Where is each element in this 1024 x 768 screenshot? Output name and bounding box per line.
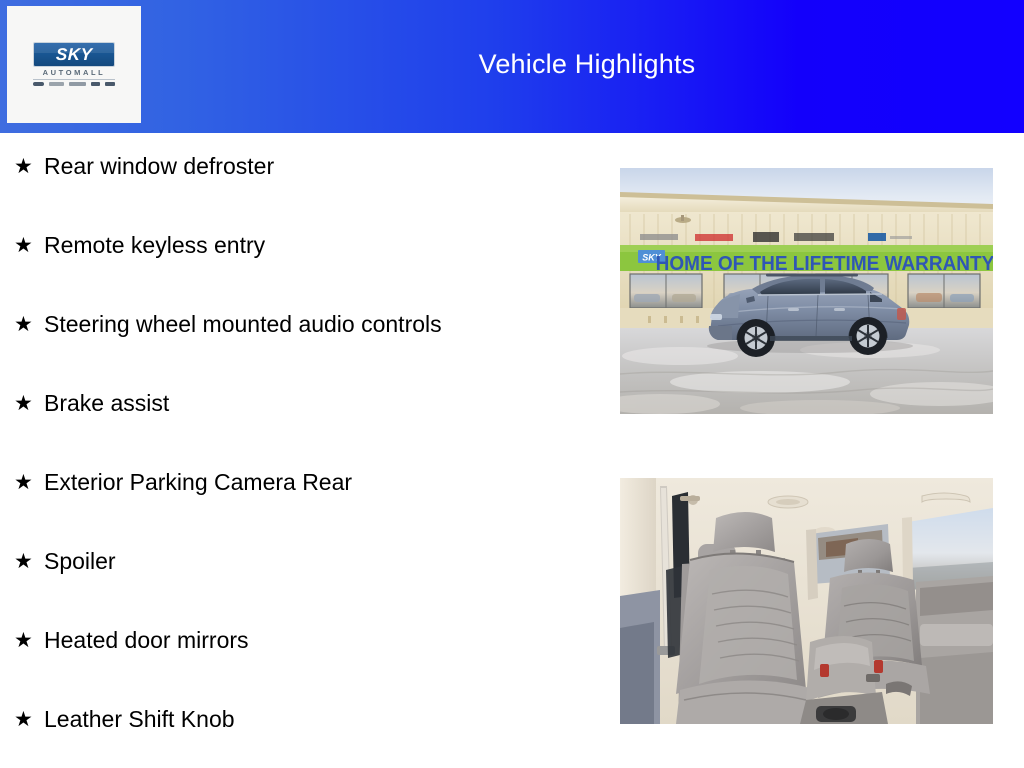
vehicle-exterior-photo: SKY HOME OF THE LIFETIME WARRANTY <box>620 168 993 414</box>
exterior-photo-art: SKY HOME OF THE LIFETIME WARRANTY <box>620 168 993 414</box>
chrysler-brand-icon <box>33 82 44 86</box>
star-icon: ★ <box>14 308 44 341</box>
oem-brand-logo-strip <box>33 82 115 86</box>
jeep-brand-icon <box>69 82 86 86</box>
list-item: ★ Spoiler <box>14 545 614 624</box>
sky-brand-icon <box>105 82 115 86</box>
feature-label: Rear window defroster <box>44 150 274 183</box>
dodge-brand-icon <box>49 82 64 86</box>
list-item: ★ Heated door mirrors <box>14 624 614 703</box>
feature-label: Heated door mirrors <box>44 624 249 657</box>
star-icon: ★ <box>14 703 44 736</box>
star-icon: ★ <box>14 624 44 657</box>
star-icon: ★ <box>14 229 44 262</box>
dealer-logo-card: SKY AUTOMALL <box>7 6 141 123</box>
star-icon: ★ <box>14 387 44 420</box>
list-item: ★ Rear window defroster <box>14 150 614 229</box>
logo-divider <box>33 79 115 80</box>
list-item: ★ Brake assist <box>14 387 614 466</box>
feature-label: Steering wheel mounted audio controls <box>44 308 442 341</box>
star-icon: ★ <box>14 545 44 578</box>
automall-logo-text: AUTOMALL <box>43 69 106 77</box>
feature-label: Exterior Parking Camera Rear <box>44 466 352 499</box>
sky-logo-text: SKY <box>55 46 92 63</box>
ram-brand-icon <box>91 82 100 86</box>
feature-label: Remote keyless entry <box>44 229 265 262</box>
interior-photo-art <box>620 478 993 724</box>
feature-label: Spoiler <box>44 545 116 578</box>
sky-logo-plate: SKY <box>34 43 114 66</box>
feature-label: Brake assist <box>44 387 169 420</box>
svg-text:HOME OF THE LIFETIME WARRANTY: HOME OF THE LIFETIME WARRANTY <box>656 252 993 275</box>
list-item: ★ Leather Shift Knob <box>14 703 614 768</box>
dealer-logo: SKY AUTOMALL <box>34 43 114 86</box>
star-icon: ★ <box>14 466 44 499</box>
list-item: ★ Remote keyless entry <box>14 229 614 308</box>
star-icon: ★ <box>14 150 44 183</box>
slide-header: SKY AUTOMALL Vehicle Highlights <box>0 0 1024 133</box>
vehicle-interior-photo <box>620 478 993 724</box>
list-item: ★ Exterior Parking Camera Rear <box>14 466 614 545</box>
page-title: Vehicle Highlights <box>160 46 1014 82</box>
slide-canvas: SKY AUTOMALL Vehicle Highlights ★ Rear w… <box>0 0 1024 768</box>
vehicle-features-list: ★ Rear window defroster ★ Remote keyless… <box>14 150 614 768</box>
list-item: ★ Steering wheel mounted audio controls <box>14 308 614 387</box>
feature-label: Leather Shift Knob <box>44 703 235 736</box>
